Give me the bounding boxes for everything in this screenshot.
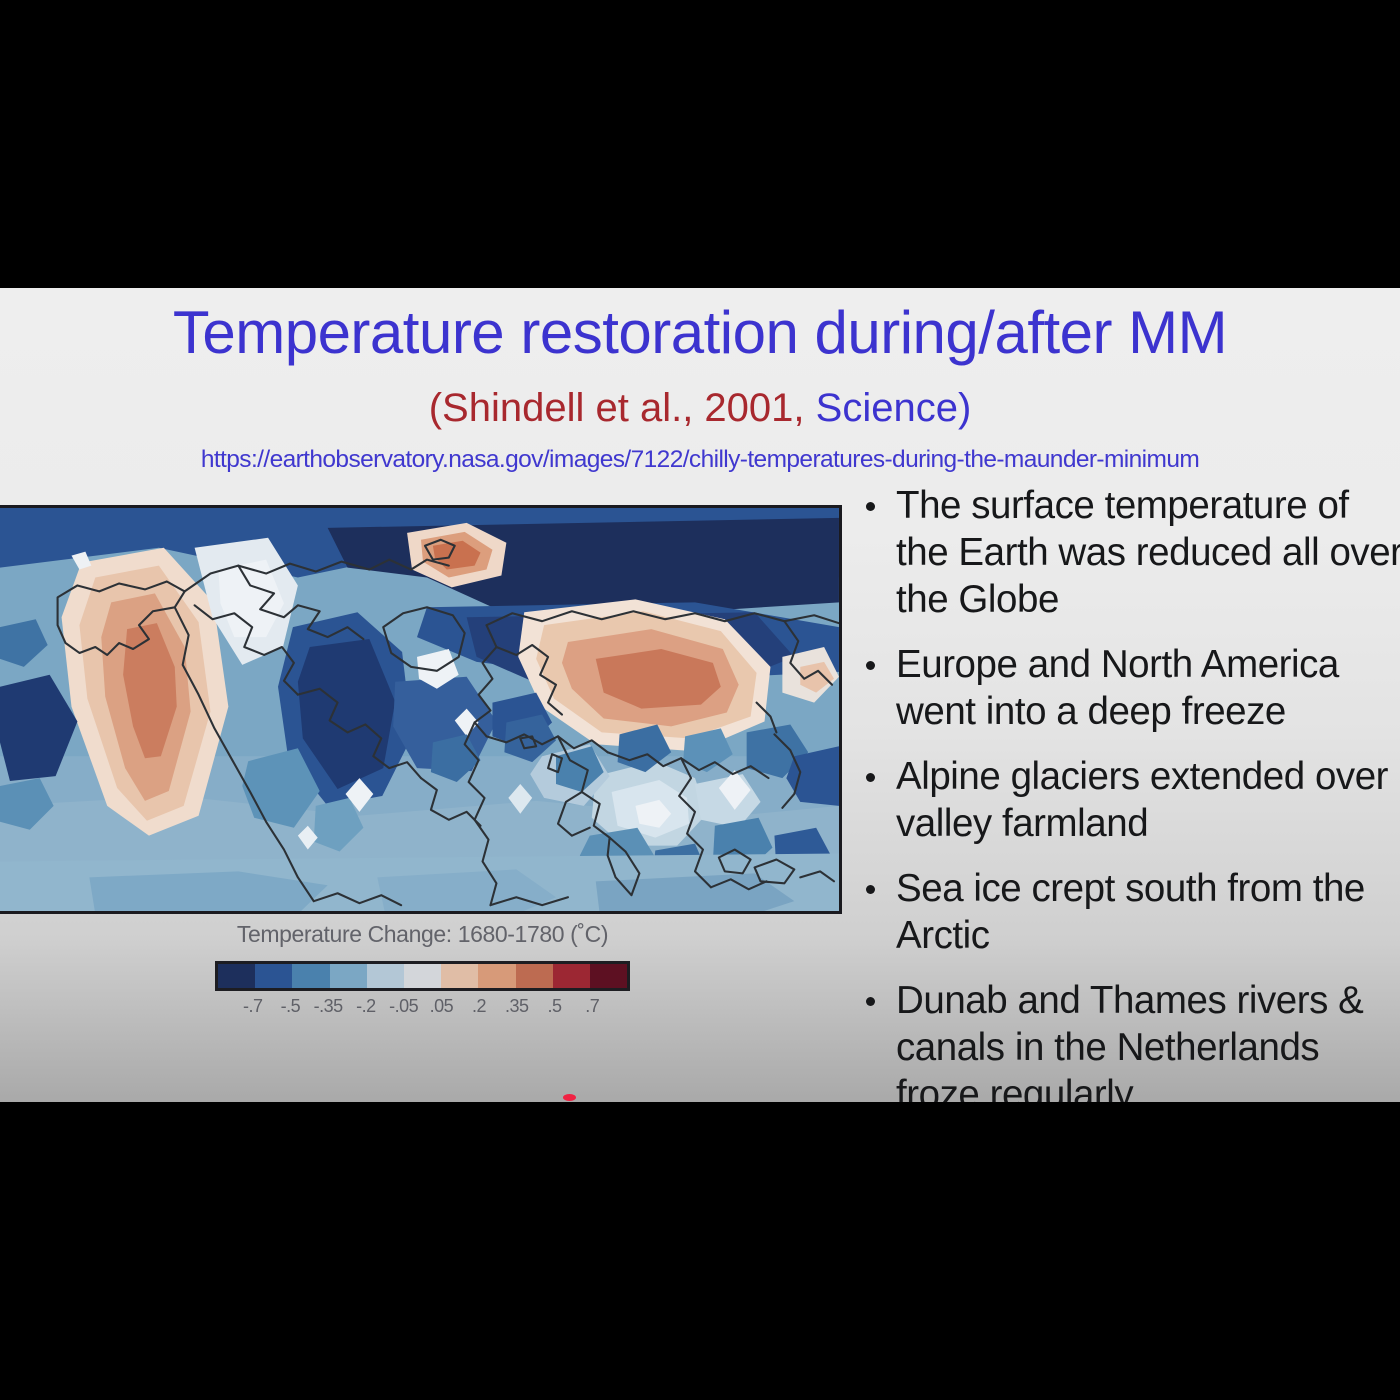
- list-item-text: Sea ice crept south from the Arctic: [896, 867, 1365, 957]
- list-item-text: Europe and North America went into a dee…: [896, 643, 1339, 733]
- colorbar-swatch: [441, 964, 478, 988]
- bullet-dot-icon: [866, 885, 875, 894]
- colorbar-swatch: [516, 964, 553, 988]
- colorbar-tick: -.2: [356, 995, 376, 1017]
- list-item-text: The surface temperature of the Earth was…: [896, 484, 1400, 621]
- colorbar-swatch: [292, 964, 329, 988]
- list-item: The surface temperature of the Earth was…: [860, 482, 1400, 623]
- world-temperature-anomaly-map: [0, 505, 842, 914]
- colorbar-tick: -.05: [389, 995, 418, 1017]
- colorbar-tick: -.7: [243, 995, 263, 1017]
- colorbar-gradient: [215, 961, 630, 991]
- list-item: Alpine glaciers extended over valley far…: [860, 753, 1400, 847]
- page-title: Temperature restoration during/after MM: [0, 300, 1400, 366]
- list-item: Dunab and Thames rivers & canals in the …: [860, 977, 1400, 1102]
- colorbar-swatch: [367, 964, 404, 988]
- bullet-dot-icon: [866, 661, 875, 670]
- list-item-text: Dunab and Thames rivers & canals in the …: [896, 979, 1363, 1102]
- colorbar-swatch: [404, 964, 441, 988]
- map-coastline-outlines: [0, 508, 839, 914]
- colorbar-swatch: [255, 964, 292, 988]
- source-url-link[interactable]: https://earthobservatory.nasa.gov/images…: [0, 446, 1400, 474]
- list-item: Europe and North America went into a dee…: [860, 641, 1400, 735]
- colorbar-title-text: Temperature Change: 1680-1780 (˚C): [237, 921, 608, 947]
- bullet-dot-icon: [866, 773, 875, 782]
- bullet-dot-icon: [866, 997, 875, 1006]
- figure-temperature-map: Temperature Change: 1680-1780 (˚C): [0, 496, 845, 836]
- colorbar-tick: .2: [472, 995, 486, 1017]
- slide-subtitle: (Shindell et al., 2001, Science): [0, 385, 1400, 431]
- colorbar-swatch: [590, 964, 627, 988]
- colorbar-swatch: [330, 964, 367, 988]
- colorbar-tick: .7: [585, 995, 599, 1017]
- subtitle-journal: Science): [816, 386, 972, 430]
- colorbar-tick: .35: [505, 995, 529, 1017]
- colorbar-swatch: [478, 964, 515, 988]
- colorbar-tick: -.5: [281, 995, 301, 1017]
- subtitle-citation: (Shindell et al., 2001,: [429, 386, 816, 430]
- colorbar-swatch: [553, 964, 590, 988]
- cursor-speck: [563, 1094, 576, 1101]
- video-frame: Temperature restoration during/after MM …: [0, 0, 1400, 1400]
- colorbar-tick: .05: [430, 995, 454, 1017]
- presentation-slide: Temperature restoration during/after MM …: [0, 288, 1400, 1102]
- bullet-dot-icon: [866, 502, 875, 511]
- colorbar-tick: .5: [547, 995, 561, 1017]
- colorbar-swatch: [218, 964, 255, 988]
- colorbar-title: Temperature Change: 1680-1780 (˚C): [0, 921, 845, 947]
- bullet-list: The surface temperature of the Earth was…: [860, 482, 1400, 1102]
- list-item: Sea ice crept south from the Arctic: [860, 865, 1400, 959]
- list-item-text: Alpine glaciers extended over valley far…: [896, 755, 1388, 845]
- colorbar-tick-labels: -.7 -.5 -.35 -.2 -.05 .05 .2 .35 .5 .7: [215, 995, 630, 1019]
- colorbar-block: Temperature Change: 1680-1780 (˚C): [0, 921, 845, 1019]
- colorbar-tick: -.35: [314, 995, 343, 1017]
